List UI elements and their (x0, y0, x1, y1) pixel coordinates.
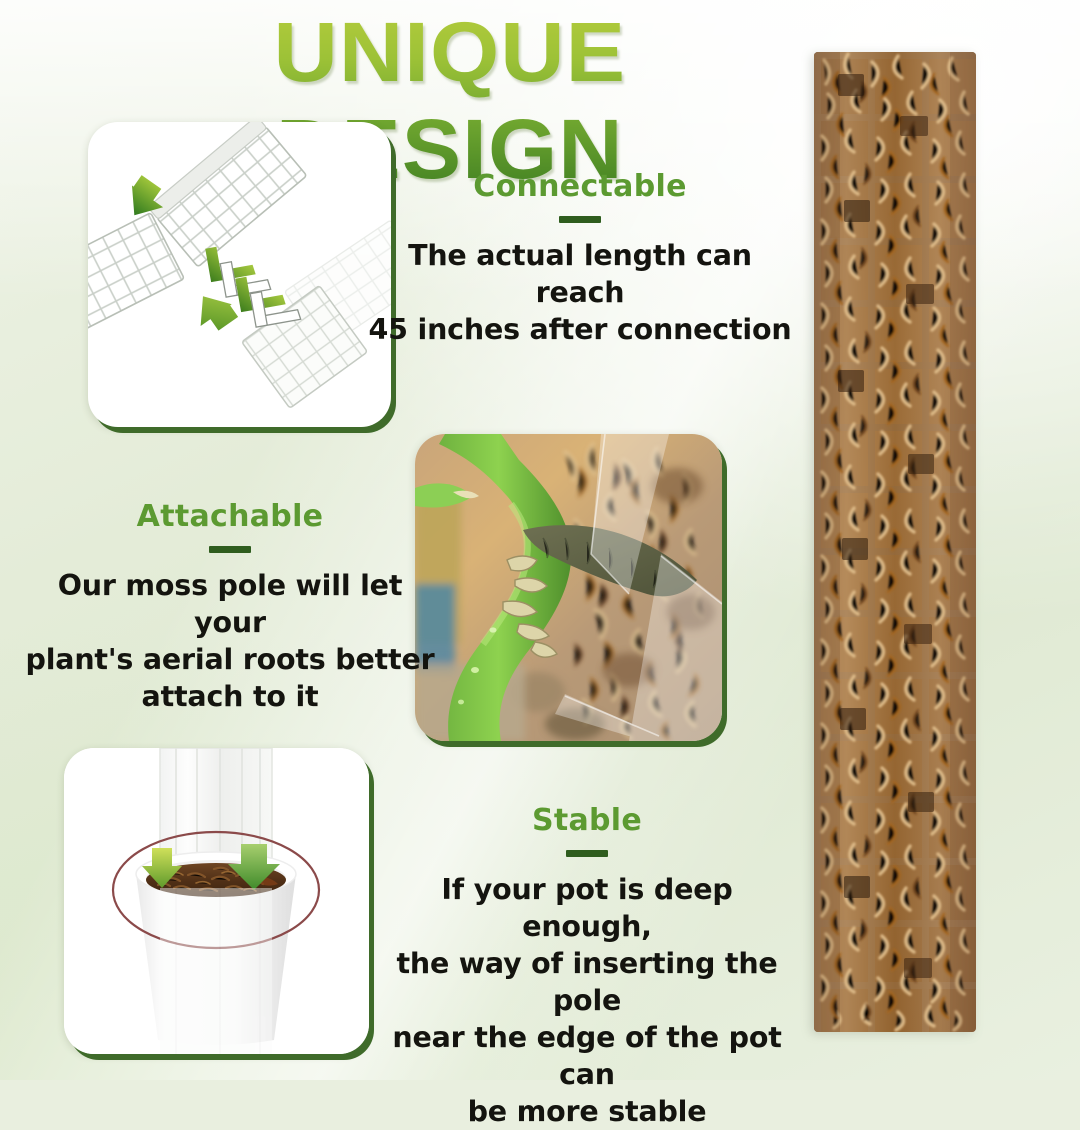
feature-heading-connectable: Connectable (368, 170, 792, 203)
feature-text-attachable: Attachable Our moss pole will let your p… (20, 500, 440, 715)
pot-insertion-illustration (64, 748, 369, 1054)
feature-image-connectable (88, 122, 391, 427)
aerial-roots-photo (415, 434, 722, 741)
feature-text-connectable: Connectable The actual length can reach … (368, 170, 792, 348)
body-line: plant's aerial roots better (26, 643, 435, 676)
feature-heading-stable: Stable (372, 804, 802, 837)
feature-body-connectable: The actual length can reach 45 inches af… (368, 237, 792, 348)
sphagnum-moss-fill (814, 52, 976, 1032)
mesh-panels-illustration (88, 122, 391, 427)
feature-image-stable (64, 748, 369, 1054)
body-line: The actual length can reach (408, 239, 752, 309)
body-line: the way of inserting the pole (396, 947, 777, 1017)
feature-image-attachable (415, 434, 722, 741)
feature-body-stable: If your pot is deep enough, the way of i… (372, 871, 802, 1130)
heading-divider (209, 546, 251, 553)
body-line: attach to it (142, 680, 319, 713)
heading-divider (566, 850, 608, 857)
body-line: be more stable (468, 1095, 707, 1128)
body-line: If your pot is deep enough, (441, 873, 732, 943)
pole-below-soil (160, 888, 272, 1054)
heading-divider (559, 216, 601, 223)
body-line: 45 inches after connection (369, 313, 792, 346)
moss-pole-photo (814, 52, 976, 1032)
feature-body-attachable: Our moss pole will let your plant's aeri… (20, 567, 440, 715)
body-line: Our moss pole will let your (58, 569, 403, 639)
feature-text-stable: Stable If your pot is deep enough, the w… (372, 804, 802, 1130)
body-line: near the edge of the pot can (392, 1021, 781, 1091)
feature-heading-attachable: Attachable (20, 500, 440, 533)
mesh-panel-top (148, 122, 307, 267)
